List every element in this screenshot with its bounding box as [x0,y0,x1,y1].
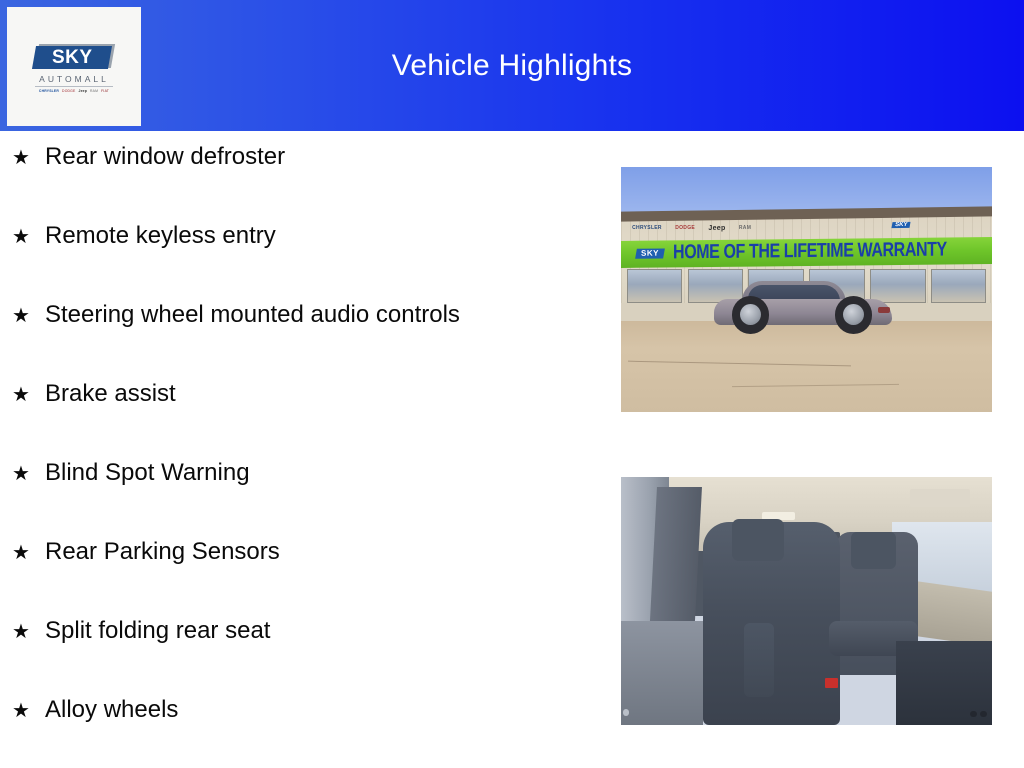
feature-label: Rear window defroster [45,145,285,169]
star-icon: ★ [12,306,45,326]
list-item: ★ Rear Parking Sensors [0,540,610,619]
feature-label: Remote keyless entry [45,224,276,248]
brand-ram-icon: RAM [90,90,98,93]
logo-brand-row: CHRYSLER DODGE Jeep RAM FIAT [39,90,109,93]
banner-text: HOME OF THE LIFETIME WARRANTY [673,241,947,264]
feature-label: Alloy wheels [45,698,178,722]
logo-divider [35,86,113,87]
brand-chrysler-icon: CHRYSLER [39,90,59,93]
list-item: ★ Brake assist [0,382,610,461]
sky-logo-text: SKY [52,48,93,67]
feature-label: Rear Parking Sensors [45,540,280,564]
vehicle-taillight [878,307,890,313]
seatbelt-buckle [825,678,838,688]
star-icon: ★ [12,622,45,642]
list-item: ★ Alloy wheels [0,698,610,768]
brand-jeep-icon: Jeep [78,90,87,93]
list-item: ★ Blind Spot Warning [0,461,610,540]
header-band [0,0,1024,131]
brand-dodge-icon: DODGE [62,90,75,93]
window-pane [931,269,986,303]
brand-fiat-icon: FIAT [101,90,109,93]
sign-chrysler: CHRYSLER [632,225,662,231]
star-icon: ★ [12,543,45,563]
list-item: ★ Rear window defroster [0,145,610,224]
list-item: ★ Split folding rear seat [0,619,610,698]
vehicle-interior-photo [621,477,992,725]
parking-lot [621,321,992,412]
vehicle-feature-list: ★ Rear window defroster ★ Remote keyless… [0,145,610,768]
sky-logo-mark: SKY [34,44,114,70]
door-speaker [623,709,630,716]
vehicle-front-wheel [732,296,769,333]
list-item: ★ Steering wheel mounted audio controls [0,303,610,382]
vehicle-side-profile [714,282,892,333]
sign-dodge: DODGE [675,225,695,231]
automall-label: AUTOMALL [39,75,109,84]
seat-insert [744,623,774,696]
feature-label: Steering wheel mounted audio controls [45,303,460,327]
banner-sky-logo-secondary: SKY [892,223,911,229]
list-item: ★ Remote keyless entry [0,224,610,303]
sign-jeep: Jeep [708,225,725,232]
slide: SKY AUTOMALL CHRYSLER DODGE Jeep RAM FIA… [0,0,1024,768]
feature-label: Split folding rear seat [45,619,270,643]
banner-sky-logo: SKY [635,249,665,259]
vehicle-exterior-photo: CHRYSLER DODGE Jeep RAM SKY HOME OF THE … [621,167,992,412]
feature-label: Blind Spot Warning [45,461,250,485]
sky-logo-box: SKY [32,46,112,69]
star-icon: ★ [12,227,45,247]
cupholder [970,711,977,718]
center-console [896,641,992,725]
feature-label: Brake assist [45,382,176,406]
star-icon: ★ [12,385,45,405]
cupholder [980,711,987,718]
star-icon: ★ [12,464,45,484]
warranty-banner: SKY HOME OF THE LIFETIME WARRANTY SKY [621,237,992,268]
logo-inner: SKY AUTOMALL CHRYSLER DODGE Jeep RAM FIA… [34,44,114,93]
building-brand-signs: CHRYSLER DODGE Jeep RAM [632,225,899,232]
passenger-headrest [851,532,896,569]
star-icon: ★ [12,701,45,721]
sun-visor [910,489,969,506]
dashboard [910,580,992,646]
vehicle-rear-wheel [835,296,872,333]
sign-ram: RAM [739,225,751,231]
driver-headrest [732,519,784,561]
window-pane [627,269,682,303]
star-icon: ★ [12,148,45,168]
dealer-logo: SKY AUTOMALL CHRYSLER DODGE Jeep RAM FIA… [7,7,141,126]
door-panel [621,621,703,725]
